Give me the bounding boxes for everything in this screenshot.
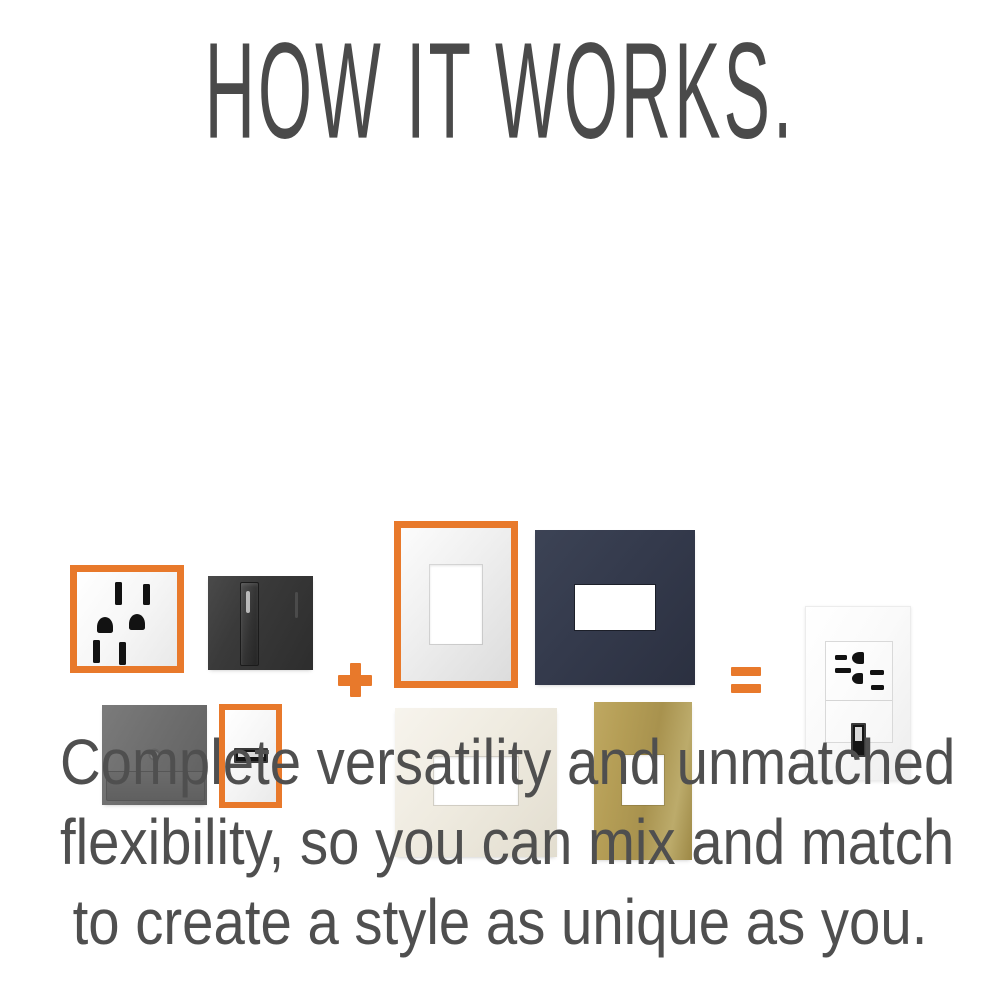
outlet-slot-bot-right: [871, 685, 884, 690]
wall-plate-navy-2gang[interactable]: [535, 530, 695, 685]
outlet-ground-right: [852, 673, 863, 684]
page-title: HOW IT WORKS.: [200, 22, 800, 159]
outlet-ground-left: [852, 652, 864, 664]
navy-plate-face: [535, 530, 695, 685]
wall-plate-white-1gang[interactable]: [394, 521, 518, 688]
plus-operator-icon: [338, 663, 372, 697]
module-divider: [826, 700, 892, 701]
plate-opening: [575, 585, 655, 630]
outlet-slot-top-left: [835, 655, 847, 660]
caption-line-1: Complete versatility and unmatched: [60, 722, 940, 802]
duplex-outlet-face: [77, 572, 177, 666]
dimmer-switch-face: [208, 576, 313, 670]
outlet-slot-top-left: [115, 582, 122, 605]
plate-opening: [430, 565, 482, 644]
caption-text: Complete versatility and unmatched flexi…: [0, 722, 1000, 962]
outlet-slot-top-right: [870, 670, 884, 675]
white-plate-face: [401, 528, 511, 681]
how-it-works-diagram: [0, 240, 1000, 660]
caption-line-2: flexibility, so you can mix and match: [60, 802, 940, 882]
outlet-slot-mid-left: [835, 668, 851, 673]
caption-line-3: to create a style as unique as you.: [60, 882, 940, 962]
device-duplex-outlet[interactable]: [70, 565, 184, 673]
outlet-ground-left: [97, 617, 113, 633]
outlet-slot-top-right: [143, 584, 150, 605]
device-dimmer-switch[interactable]: [208, 576, 313, 670]
dimmer-rocker-icon: [295, 592, 298, 618]
dimmer-led-icon: [246, 591, 250, 613]
outlet-ground-right: [129, 614, 145, 630]
outlet-slot-bot-left: [93, 640, 100, 663]
equals-operator-icon: [731, 667, 761, 693]
outlet-slot-bot-right: [119, 642, 126, 665]
